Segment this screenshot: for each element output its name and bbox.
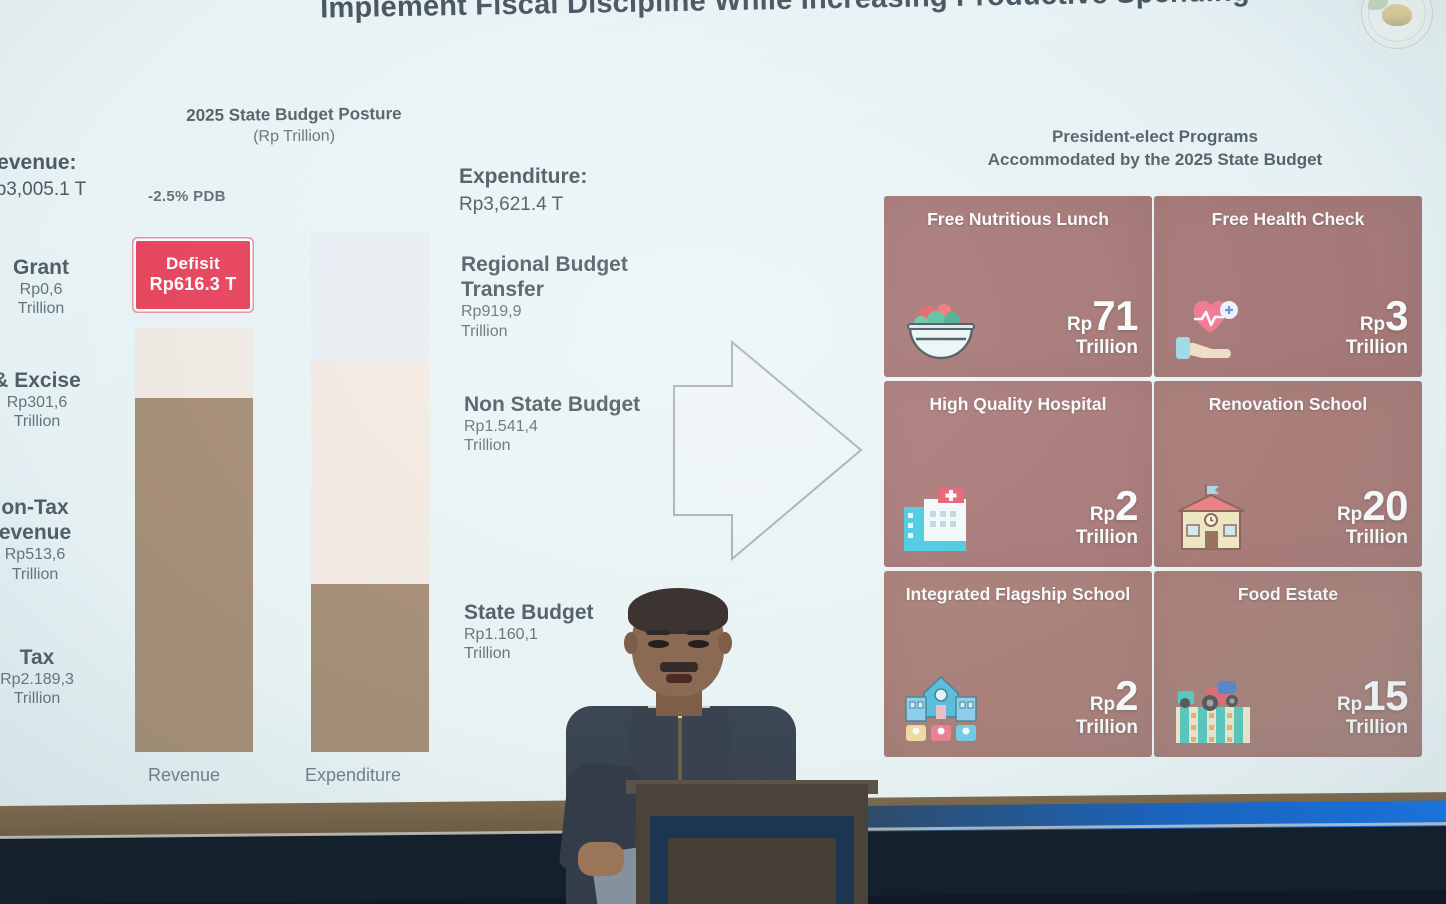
axis-label-revenue: Revenue <box>148 765 220 786</box>
program-card-free-health-check[interactable]: Free Health Check Rp 3 <box>1154 196 1422 377</box>
program-card-amount: Rp 71 Trillion <box>1067 296 1138 359</box>
expenditure-label-regional-unit: Trillion <box>461 322 676 341</box>
salad-bowl-icon <box>902 293 980 365</box>
expenditure-label-nonstate: Non State Budget Rp1.541,4 Trillion <box>464 392 664 456</box>
revenue-label-excise-value: Rp301,6 <box>0 393 96 412</box>
revenue-label-nontax-unit: Trillion <box>0 565 96 584</box>
amount-value: 20 <box>1362 486 1408 526</box>
speaker-moustache <box>660 662 698 672</box>
expenditure-bar-segment-statebudget <box>311 584 429 752</box>
speaker-hair <box>628 588 728 634</box>
revenue-label-excise-unit: Trillion <box>0 412 96 431</box>
expenditure-header-label: Expenditure: <box>459 164 659 190</box>
program-card-high-quality-hospital[interactable]: High Quality Hospital <box>884 381 1152 567</box>
revenue-label-tax: Tax Rp2.189,3 Trillion <box>0 645 96 709</box>
expenditure-label-regional: Regional Budget Transfer Rp919,9 Trillio… <box>461 252 676 341</box>
right-arrow-icon <box>670 338 865 563</box>
presentation-photo: Implement Fiscal Discipline While Increa… <box>0 0 1446 904</box>
axis-label-expenditure: Expenditure <box>305 765 401 786</box>
expenditure-bar-segment-regional <box>311 232 429 362</box>
chart-title: 2025 State Budget Posture (Rp Trillion) <box>144 103 444 149</box>
chart-title-text: 2025 State Budget Posture <box>186 104 402 125</box>
speaker-hand <box>578 842 624 876</box>
hospital-icon <box>902 483 980 555</box>
amount-value: 71 <box>1092 296 1138 336</box>
revenue-header-label: Revenue: <box>0 150 122 176</box>
expenditure-label-regional-name: Regional Budget Transfer <box>461 252 676 302</box>
currency-prefix: Rp <box>1090 504 1115 526</box>
speaker-eyebrow-left <box>646 630 670 635</box>
amount-unit: Trillion <box>1076 527 1138 549</box>
heart-hand-icon <box>1172 293 1250 365</box>
revenue-label-nontax: on-Tax evenue Rp513,6 Trillion <box>0 495 96 584</box>
expenditure-header-value: Rp3,621.4 T <box>459 193 659 217</box>
amount-unit: Trillion <box>1076 717 1138 739</box>
school-icon <box>1172 483 1250 555</box>
expenditure-label-regional-value: Rp919,9 <box>461 302 676 321</box>
program-card-renovation-school[interactable]: Renovation School <box>1154 381 1422 567</box>
program-card-title: Free Health Check <box>1154 209 1422 231</box>
revenue-bar-gap <box>135 232 253 328</box>
amount-unit: Trillion <box>1337 527 1408 549</box>
program-card-amount: Rp 15 Trillion <box>1337 676 1408 739</box>
program-card-integrated-flagship-school[interactable]: Integrated Flagship School <box>884 571 1152 757</box>
expenditure-bar <box>311 232 429 752</box>
flagship-school-icon <box>902 673 980 745</box>
amount-unit: Trillion <box>1067 337 1138 359</box>
program-card-title: Free Nutritious Lunch <box>884 209 1152 231</box>
programs-grid: Free Nutritious Lunch Rp <box>884 196 1422 766</box>
programs-title-line2: Accommodated by the 2025 State Budget <box>988 150 1322 169</box>
speaker-ear-right <box>718 632 732 654</box>
revenue-header: Revenue: Rp3,005.1 T <box>0 150 122 201</box>
revenue-bar <box>135 232 253 752</box>
revenue-bar-segment-excise-grant <box>135 328 253 398</box>
amount-unit: Trillion <box>1346 337 1408 359</box>
speaker-eyebrow-right <box>686 630 710 635</box>
amount-unit: Trillion <box>1337 717 1408 739</box>
program-card-title: Integrated Flagship School <box>884 584 1152 606</box>
program-card-food-estate[interactable]: Food Estate <box>1154 571 1422 757</box>
revenue-header-value: Rp3,005.1 T <box>0 178 122 201</box>
programs-title: President-elect Programs Accommodated by… <box>905 126 1405 172</box>
revenue-label-tax-unit: Trillion <box>0 689 96 708</box>
program-card-title: High Quality Hospital <box>884 394 1152 416</box>
speaker-eye-right <box>688 640 709 648</box>
revenue-label-tax-name: Tax <box>0 645 96 670</box>
amount-value: 15 <box>1362 676 1408 716</box>
programs-title-line1: President-elect Programs <box>1052 127 1258 146</box>
revenue-label-grant-name: Grant <box>0 255 96 280</box>
farm-tractor-icon <box>1172 673 1250 745</box>
chart-subtitle-text: (Rp Trillion) <box>253 128 335 146</box>
amount-value: 2 <box>1115 486 1138 526</box>
revenue-label-grant-unit: Trillion <box>0 299 96 318</box>
expenditure-label-nonstate-name: Non State Budget <box>464 392 664 417</box>
revenue-label-tax-value: Rp2.189,3 <box>0 670 96 689</box>
revenue-label-excise-name: & Excise <box>0 368 96 393</box>
revenue-label-nontax-name: on-Tax evenue <box>0 495 96 545</box>
amount-value: 2 <box>1115 676 1138 716</box>
currency-prefix: Rp <box>1090 694 1115 716</box>
program-card-amount: Rp 20 Trillion <box>1337 486 1408 549</box>
revenue-label-nontax-value: Rp513,6 <box>0 545 96 564</box>
speaker-ear-left <box>624 632 638 654</box>
program-card-amount: Rp 3 Trillion <box>1346 296 1408 359</box>
revenue-label-grant-value: Rp0,6 <box>0 280 96 299</box>
currency-prefix: Rp <box>1337 504 1362 526</box>
expenditure-bar-segment-nonstate <box>311 362 429 584</box>
currency-prefix: Rp <box>1360 314 1385 336</box>
revenue-label-excise: & Excise Rp301,6 Trillion <box>0 368 96 432</box>
expenditure-header: Expenditure: Rp3,621.4 T <box>459 164 659 217</box>
podium-inner-panel <box>668 838 836 904</box>
garuda-emblem-logo <box>1354 0 1440 56</box>
expenditure-label-nonstate-unit: Trillion <box>464 436 664 455</box>
revenue-label-grant: Grant Rp0,6 Trillion <box>0 255 96 319</box>
speaker-mouth <box>666 674 692 683</box>
program-card-amount: Rp 2 Trillion <box>1076 676 1138 739</box>
slide-title: Implement Fiscal Discipline While Increa… <box>200 0 1370 28</box>
program-card-title: Food Estate <box>1154 584 1422 606</box>
currency-prefix: Rp <box>1337 694 1362 716</box>
logo-bird-shape <box>1382 4 1412 26</box>
program-card-free-nutritious-lunch[interactable]: Free Nutritious Lunch Rp <box>884 196 1152 377</box>
currency-prefix: Rp <box>1067 314 1092 336</box>
program-card-amount: Rp 2 Trillion <box>1076 486 1138 549</box>
revenue-bar-segment-tax-nontax <box>135 398 253 752</box>
deficit-percent-label: -2.5% PDB <box>148 188 226 205</box>
expenditure-label-nonstate-value: Rp1.541,4 <box>464 417 664 436</box>
program-card-title: Renovation School <box>1154 394 1422 416</box>
speaker-eye-left <box>648 640 669 648</box>
amount-value: 3 <box>1385 296 1408 336</box>
